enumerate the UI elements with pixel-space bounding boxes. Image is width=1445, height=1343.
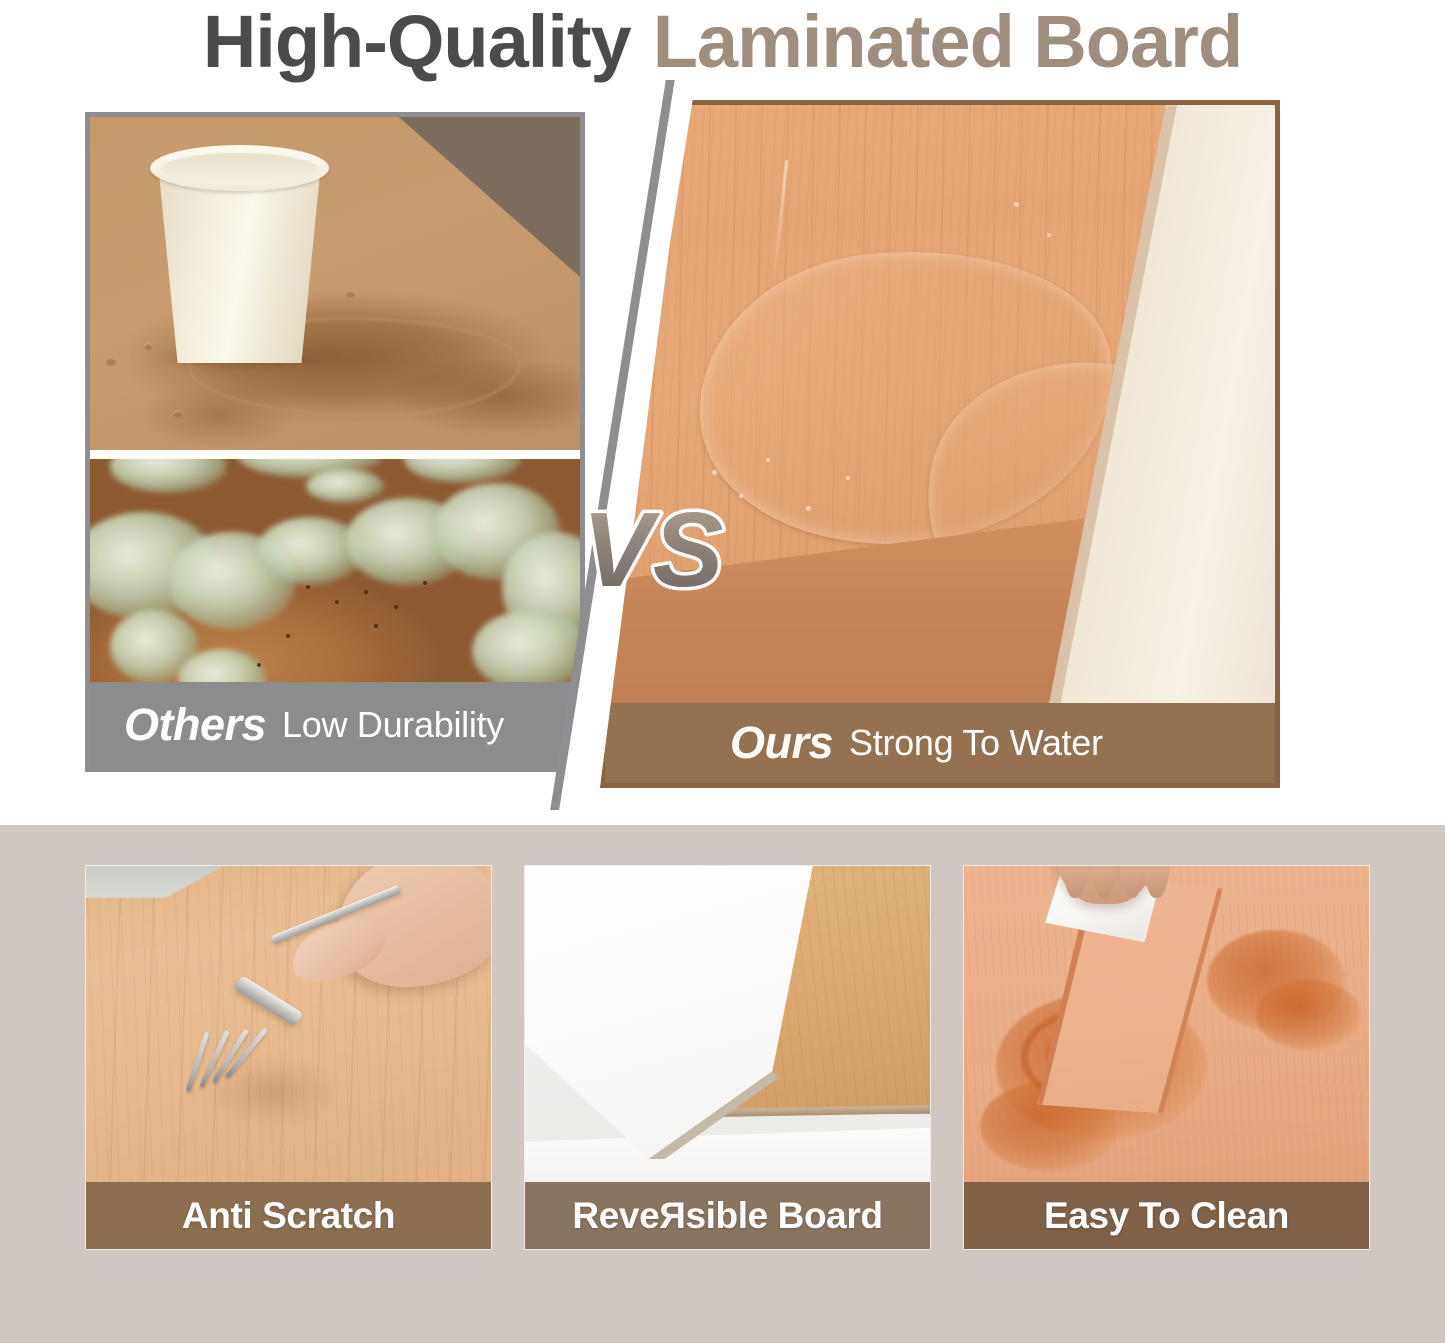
- mold-speck: [374, 624, 378, 628]
- mold-speck: [423, 581, 427, 585]
- others-label-bar: Others Low Durability: [90, 682, 580, 767]
- feature-caption-label: Anti Scratch: [182, 1195, 395, 1237]
- sauce-stain: [1256, 980, 1361, 1050]
- paper-cup-inner: [161, 153, 318, 185]
- ours-label-bar: Ours Strong To Water: [605, 703, 1275, 783]
- others-title: Others: [124, 699, 266, 751]
- water-droplet: [1014, 202, 1019, 207]
- mold-patch: [404, 459, 522, 483]
- title-part-secondary: Laminated Board: [653, 5, 1242, 79]
- mold-speck: [257, 663, 261, 667]
- title-part-primary: High-Quality: [203, 5, 631, 79]
- ours-subtitle: Strong To Water: [849, 722, 1103, 764]
- feature-caption-label: ReveЯsible Board: [572, 1195, 882, 1237]
- droplet: [105, 357, 117, 366]
- others-panel: Others Low Durability: [85, 112, 585, 772]
- mold-speck: [335, 600, 339, 604]
- water-droplet: [1047, 233, 1051, 237]
- feature-caption-bar: Anti Scratch: [86, 1182, 491, 1249]
- feature-card-reversible-board: ReveЯsible Board: [524, 865, 931, 1250]
- photo-white-and-wood-board-faces: [525, 866, 930, 1184]
- photo-wiping-sauce-off-board: [964, 866, 1369, 1184]
- infographic-page: High-Quality Laminated Board: [0, 0, 1445, 1343]
- mold-speck: [364, 590, 368, 594]
- white-board-background: [525, 1114, 930, 1184]
- feature-caption-bar: Easy To Clean: [964, 1182, 1369, 1249]
- mold-patch: [306, 469, 384, 503]
- water-droplet: [766, 458, 770, 462]
- others-subtitle: Low Durability: [282, 704, 504, 746]
- mold-patch: [472, 610, 580, 693]
- ours-panel: Ours Strong To Water: [600, 100, 1280, 788]
- page-title: High-Quality Laminated Board: [0, 0, 1445, 88]
- photo-fork-scratching-board: [86, 866, 491, 1184]
- comparison-section: Others Low Durability: [0, 100, 1445, 790]
- photo-water-beading-on-laminated-board: [605, 105, 1275, 713]
- feature-card-anti-scratch: Anti Scratch: [85, 865, 492, 1250]
- features-section: Anti Scratch ReveЯsible Board: [0, 825, 1445, 1343]
- mold-speck: [394, 605, 398, 609]
- water-droplet: [712, 470, 717, 475]
- photo-mold-growth-on-damp-board: [90, 459, 580, 702]
- feature-caption-bar: ReveЯsible Board: [525, 1182, 930, 1249]
- mold-speck: [286, 634, 290, 638]
- feature-caption-label: Easy To Clean: [1044, 1195, 1289, 1237]
- feature-card-easy-to-clean: Easy To Clean: [963, 865, 1370, 1250]
- ours-title: Ours: [730, 717, 833, 769]
- fork-shadow: [208, 1057, 338, 1127]
- photo-spilled-coffee-on-mdf-board: [90, 117, 580, 450]
- feature-row: Anti Scratch ReveЯsible Board: [85, 865, 1370, 1250]
- photo-divider: [90, 450, 580, 459]
- droplet: [345, 290, 356, 298]
- mold-patch: [110, 459, 228, 493]
- mold-speck: [306, 585, 310, 589]
